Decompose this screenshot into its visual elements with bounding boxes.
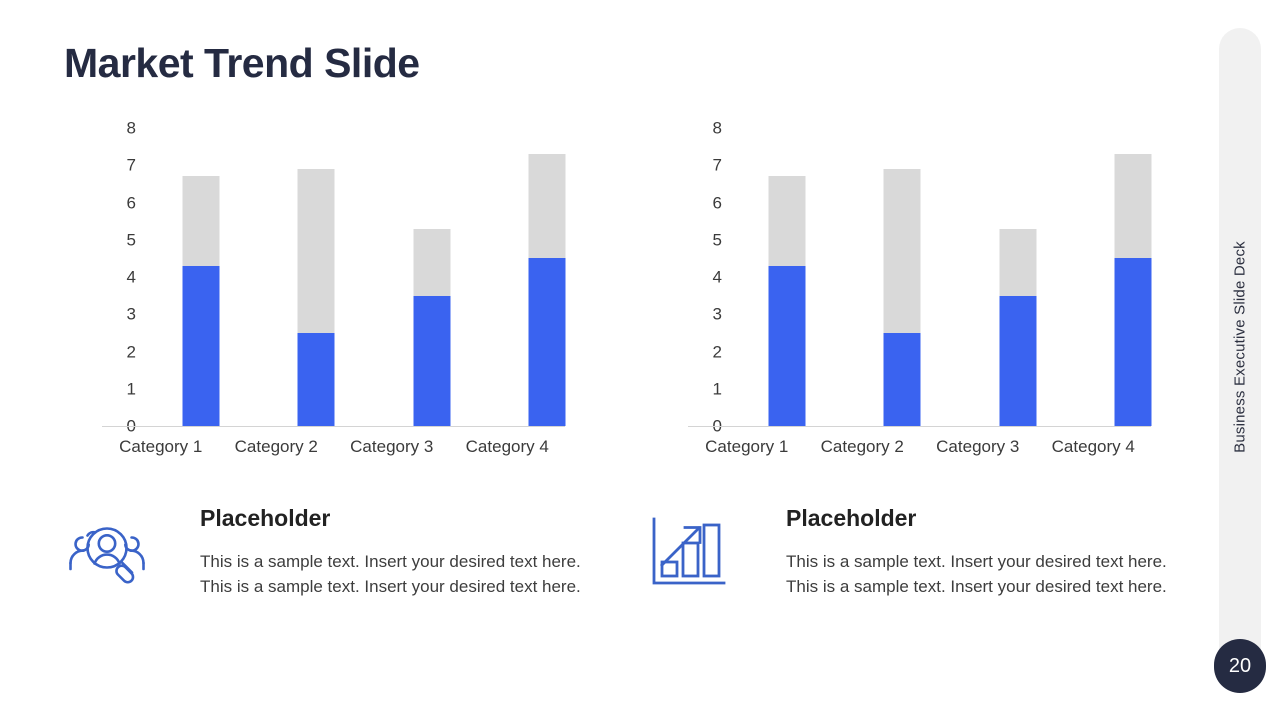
x-axis-line — [102, 426, 565, 427]
feature-text-block: Placeholder This is a sample text. Inser… — [786, 505, 1176, 600]
y-axis-tick: 2 — [102, 343, 136, 360]
growth-bar-chart-icon — [648, 513, 744, 593]
x-axis-labels-left: Category 1Category 2Category 3Category 4 — [103, 436, 565, 466]
bar-segment[interactable] — [529, 154, 566, 258]
bar-group[interactable] — [143, 128, 259, 426]
page-number-badge: 20 — [1214, 639, 1266, 693]
feature-text-block: Placeholder This is a sample text. Inser… — [200, 505, 590, 600]
bar-stack[interactable] — [884, 169, 921, 426]
y-axis-tick: 1 — [688, 380, 722, 397]
bars-area-left — [143, 128, 605, 426]
bar-stack[interactable] — [298, 169, 335, 426]
bar-stack[interactable] — [768, 176, 805, 426]
y-axis-tick: 7 — [102, 157, 136, 174]
y-axis-tick: 1 — [102, 380, 136, 397]
bar-segment[interactable] — [1115, 154, 1152, 258]
bar-segment[interactable] — [999, 229, 1036, 296]
bar-group[interactable] — [1076, 128, 1192, 426]
y-axis-tick: 6 — [102, 194, 136, 211]
bar-segment[interactable] — [298, 333, 335, 426]
y-axis-tick: 5 — [688, 231, 722, 248]
x-axis-category-label: Category 1 — [103, 436, 219, 458]
bar-group[interactable] — [960, 128, 1076, 426]
bar-stack[interactable] — [999, 229, 1036, 426]
y-axis-tick: 6 — [688, 194, 722, 211]
page-number-text: 20 — [1229, 656, 1251, 676]
slide-canvas: Market Trend Slide 876543210 Category 1C… — [0, 0, 1280, 720]
y-axis-tick: 5 — [102, 231, 136, 248]
y-axis-tick: 7 — [688, 157, 722, 174]
bar-segment[interactable] — [768, 176, 805, 265]
bar-segment[interactable] — [884, 333, 921, 426]
y-axis-tick: 8 — [688, 120, 722, 137]
people-search-icon — [62, 513, 158, 593]
bar-segment[interactable] — [1115, 258, 1152, 426]
chart-right[interactable]: 876543210 Category 1Category 2Category 3… — [648, 128, 1168, 473]
bar-group[interactable] — [845, 128, 961, 426]
bar-segment[interactable] — [298, 169, 335, 333]
x-axis-category-label: Category 2 — [805, 436, 921, 458]
chart-plot-area: 876543210 — [102, 128, 567, 428]
page-title: Market Trend Slide — [64, 40, 420, 87]
y-axis-tick: 4 — [688, 269, 722, 286]
feature-heading: Placeholder — [786, 505, 1176, 533]
x-axis-line — [688, 426, 1151, 427]
bar-segment[interactable] — [413, 296, 450, 426]
bar-segment[interactable] — [884, 169, 921, 333]
bar-stack[interactable] — [529, 154, 566, 426]
bar-stack[interactable] — [1115, 154, 1152, 426]
x-axis-category-label: Category 4 — [1036, 436, 1152, 458]
feature-description: This is a sample text. Insert your desir… — [786, 549, 1176, 601]
chart-left[interactable]: 876543210 Category 1Category 2Category 3… — [62, 128, 582, 473]
bar-segment[interactable] — [413, 229, 450, 296]
bar-segment[interactable] — [182, 266, 219, 426]
bar-group[interactable] — [729, 128, 845, 426]
feature-block-left: Placeholder This is a sample text. Inser… — [62, 505, 562, 635]
y-axis-tick: 8 — [102, 120, 136, 137]
bar-stack[interactable] — [413, 229, 450, 426]
chart-plot-area: 876543210 — [688, 128, 1153, 428]
bar-segment[interactable] — [768, 266, 805, 426]
x-axis-labels-right: Category 1Category 2Category 3Category 4 — [689, 436, 1151, 466]
x-axis-category-label: Category 4 — [450, 436, 566, 458]
x-axis-category-label: Category 1 — [689, 436, 805, 458]
bar-group[interactable] — [490, 128, 606, 426]
side-pill: Business Executive Slide Deck — [1219, 28, 1261, 692]
bar-segment[interactable] — [529, 258, 566, 426]
bar-group[interactable] — [374, 128, 490, 426]
y-axis-tick: 3 — [102, 306, 136, 323]
bar-stack[interactable] — [182, 176, 219, 426]
bar-segment[interactable] — [182, 176, 219, 265]
bar-group[interactable] — [259, 128, 375, 426]
x-axis-category-label: Category 3 — [334, 436, 450, 458]
deck-name-label: Business Executive Slide Deck — [1232, 241, 1249, 453]
x-axis-category-label: Category 3 — [920, 436, 1036, 458]
feature-description: This is a sample text. Insert your desir… — [200, 549, 590, 601]
y-axis-right: 876543210 — [688, 128, 722, 428]
feature-block-right: Placeholder This is a sample text. Inser… — [648, 505, 1148, 635]
y-axis-left: 876543210 — [102, 128, 136, 428]
y-axis-tick: 2 — [688, 343, 722, 360]
y-axis-tick: 4 — [102, 269, 136, 286]
bar-segment[interactable] — [999, 296, 1036, 426]
feature-heading: Placeholder — [200, 505, 590, 533]
x-axis-category-label: Category 2 — [219, 436, 335, 458]
bars-area-right — [729, 128, 1191, 426]
y-axis-tick: 3 — [688, 306, 722, 323]
